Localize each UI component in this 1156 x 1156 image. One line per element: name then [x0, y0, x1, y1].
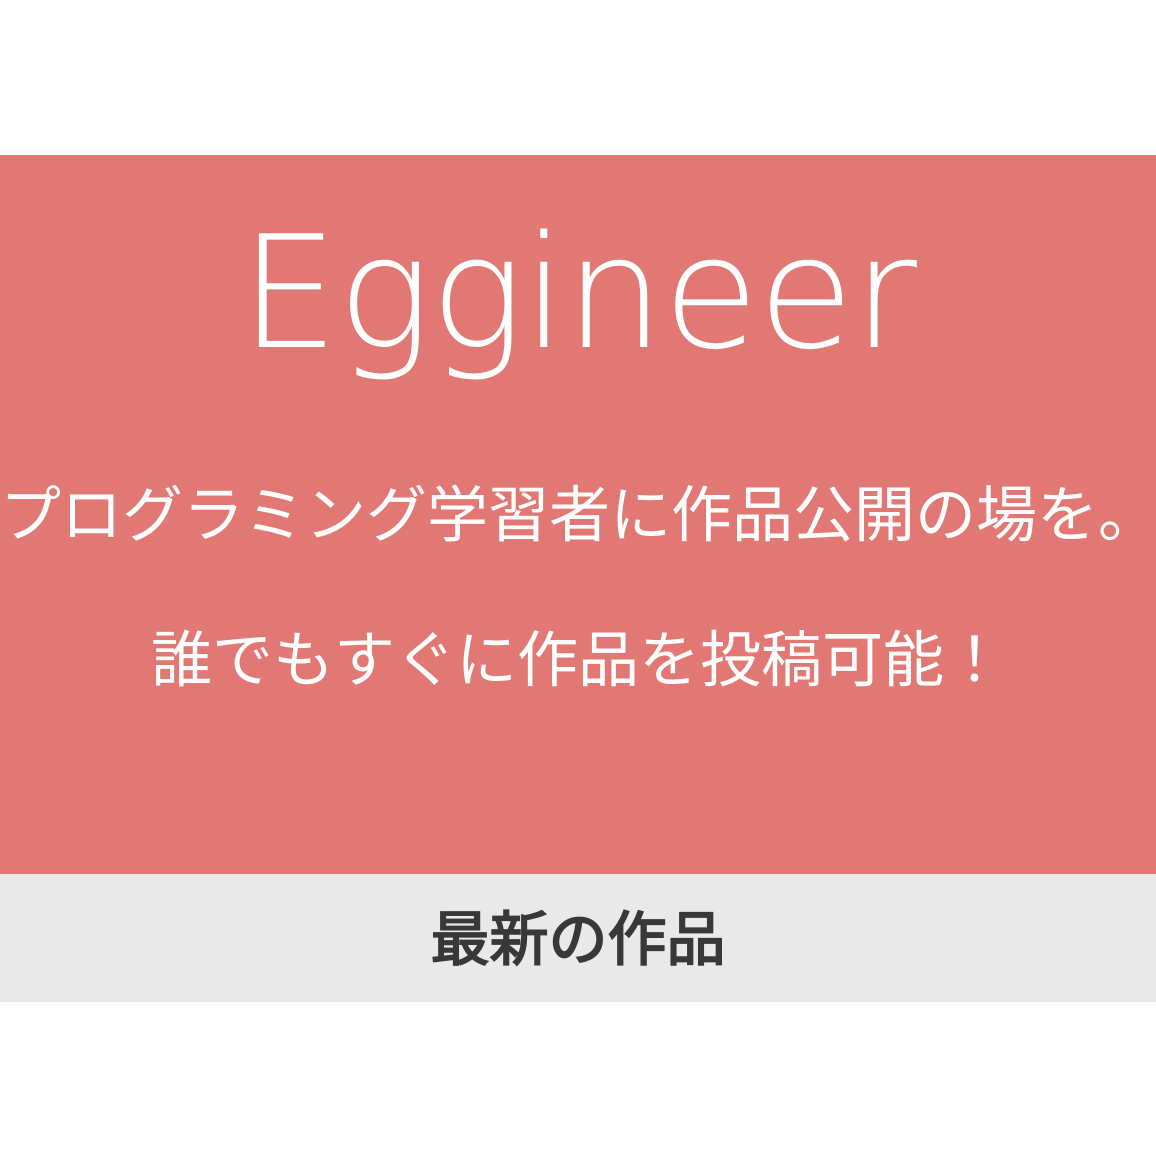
top-gutter: [0, 0, 1156, 155]
hero-subtitle-line-2: 誰でもすぐに作品を投稿可能！: [0, 630, 1156, 691]
landing-page: Eggineer プログラミング学習者に作品公開の場を。 誰でもすぐに作品を投稿…: [0, 0, 1156, 1156]
hero-subtitle-line-1: プログラミング学習者に作品公開の場を。: [0, 485, 1156, 546]
latest-works-section-band: 最新の作品: [0, 874, 1156, 1002]
content-area-below-heading: [0, 1002, 1156, 1156]
site-title: Eggineer: [0, 206, 1156, 381]
hero-banner: Eggineer プログラミング学習者に作品公開の場を。 誰でもすぐに作品を投稿…: [0, 155, 1156, 874]
section-heading-latest-works: 最新の作品: [0, 910, 1156, 969]
